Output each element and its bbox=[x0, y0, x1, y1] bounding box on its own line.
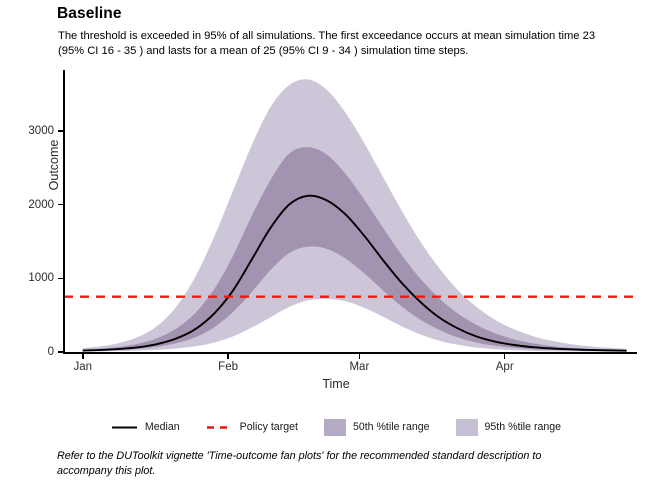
legend-entry[interactable]: Median bbox=[111, 416, 180, 438]
chart-legend: MedianPolicy target50th %tile range95th … bbox=[0, 414, 672, 440]
legend-label: Policy target bbox=[240, 421, 298, 433]
caption-line-1: Refer to the DUToolkit vignette 'Time-ou… bbox=[57, 449, 667, 464]
legend-dashed-line-icon bbox=[206, 419, 233, 436]
x-tick-mark bbox=[504, 353, 506, 359]
legend-entry[interactable]: 50th %tile range bbox=[324, 416, 430, 438]
legend-solid-line-icon bbox=[111, 419, 138, 436]
subtitle: The threshold is exceeded in 95% of all … bbox=[58, 29, 658, 59]
x-axis-title: Time bbox=[0, 377, 672, 391]
y-tick-mark bbox=[58, 351, 64, 353]
y-axis-line bbox=[63, 70, 65, 353]
y-axis-title: Outcome bbox=[47, 140, 61, 191]
legend-swatch-icon bbox=[324, 419, 346, 436]
legend-label: Median bbox=[145, 421, 180, 433]
x-tick-label: Mar bbox=[329, 361, 389, 373]
x-tick-label: Jan bbox=[53, 361, 113, 373]
y-tick-mark bbox=[58, 278, 64, 280]
x-tick-mark bbox=[359, 353, 361, 359]
legend-label: 50th %tile range bbox=[353, 421, 430, 433]
x-tick-label: Feb bbox=[198, 361, 258, 373]
subtitle-line-2: (95% CI 16 - 35 ) and lasts for a mean o… bbox=[58, 44, 658, 59]
x-tick-label: Apr bbox=[475, 361, 535, 373]
x-tick-mark bbox=[227, 353, 229, 359]
y-tick-label: 1000 bbox=[8, 272, 54, 284]
page-title: Baseline bbox=[57, 5, 122, 23]
legend-label: 95th %tile range bbox=[485, 421, 562, 433]
fan-chart bbox=[64, 72, 636, 352]
legend-entry[interactable]: Policy target bbox=[206, 416, 298, 438]
y-tick-label: 0 bbox=[8, 346, 54, 358]
subtitle-line-1: The threshold is exceeded in 95% of all … bbox=[58, 29, 658, 44]
x-axis-line bbox=[63, 352, 637, 354]
fan-plot-page: Baseline The threshold is exceeded in 95… bbox=[0, 0, 672, 480]
caption-line-2: accompany this plot. bbox=[57, 464, 667, 479]
figure-caption: Refer to the DUToolkit vignette 'Time-ou… bbox=[57, 449, 667, 478]
legend-entry[interactable]: 95th %tile range bbox=[456, 416, 562, 438]
y-axis-title-wrap: Outcome bbox=[47, 105, 61, 225]
x-tick-mark bbox=[82, 353, 84, 359]
legend-swatch-icon bbox=[456, 419, 478, 436]
